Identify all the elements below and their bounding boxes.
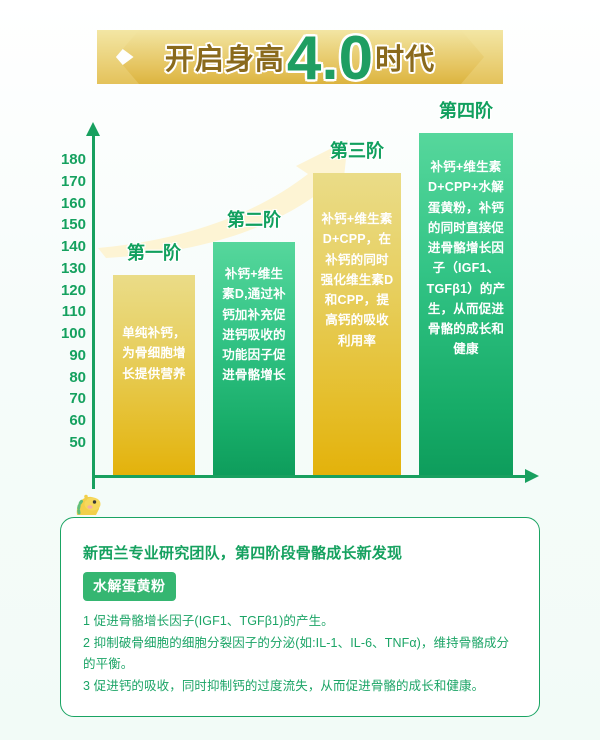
- panel-badge: 水解蛋黄粉: [83, 572, 176, 601]
- y-tick-label: 120: [42, 283, 86, 298]
- y-tick-label: 180: [42, 152, 86, 167]
- y-tick-label: 60: [42, 413, 86, 428]
- y-tick-label: 50: [42, 435, 86, 450]
- info-panel: 新西兰专业研究团队，第四阶段骨骼成长新发现 水解蛋黄粉 1 促进骨骼增长因子(I…: [60, 517, 540, 717]
- y-tick-label: 170: [42, 174, 86, 189]
- bar-label-2: 第二阶: [227, 206, 281, 232]
- bar-group-4[interactable]: 第四阶 补钙+维生素D+CPP+水解蛋黄粉，补钙的同时直接促进骨骼增长因子（IG…: [419, 95, 513, 475]
- bar-text-2: 补钙+维生素D,通过补钙加补充促进钙吸收的功能因子促进骨骼增长: [219, 264, 289, 386]
- panel-item-list: 1 促进骨骼增长因子(IGF1、TGFβ1)的产生。2 抑制破骨细胞的细胞分裂因…: [83, 611, 517, 697]
- bar-label-3: 第三阶: [330, 137, 384, 163]
- banner-number: 4.0: [287, 31, 373, 87]
- y-axis-arrow-icon: [86, 122, 100, 136]
- y-tick-label: 100: [42, 326, 86, 341]
- bar-text-3: 补钙+维生素D+CPP，在补钙的同时强化维生素D和CPP，提高钙的吸收利用率: [319, 209, 395, 351]
- panel-item: 2 抑制破骨细胞的细胞分裂因子的分泌(如:IL-1、IL-6、TNFα)，维持骨…: [83, 633, 517, 676]
- y-tick-label: 110: [42, 304, 86, 319]
- banner: 开启身高 4.0 时代: [0, 22, 600, 92]
- bar-group-2[interactable]: 第二阶 补钙+维生素D,通过补钙加补充促进钙吸收的功能因子促进骨骼增长: [213, 213, 295, 475]
- bar-chart: 1801701601501401301201101009080706050 第一…: [0, 120, 600, 490]
- y-tick-label: 150: [42, 217, 86, 232]
- banner-suffix: 时代: [375, 36, 435, 78]
- panel-item: 3 促进钙的吸收，同时抑制钙的过度流失，从而促进骨骼的成长和健康。: [83, 676, 517, 698]
- panel-heading: 新西兰专业研究团队，第四阶段骨骼成长新发现: [83, 542, 517, 563]
- y-tick-label: 140: [42, 239, 86, 254]
- y-axis-ticks: 1801701601501401301201101009080706050: [38, 120, 86, 490]
- bar-4[interactable]: 补钙+维生素D+CPP+水解蛋黄粉，补钙的同时直接促进骨骼增长因子（IGF1、T…: [419, 133, 513, 475]
- bar-text-4: 补钙+维生素D+CPP+水解蛋黄粉，补钙的同时直接促进骨骼增长因子（IGF1、T…: [425, 157, 507, 360]
- banner-title: 开启身高 4.0 时代: [0, 22, 600, 92]
- y-tick-label: 90: [42, 348, 86, 363]
- bar-3[interactable]: 补钙+维生素D+CPP，在补钙的同时强化维生素D和CPP，提高钙的吸收利用率: [313, 173, 401, 475]
- bar-group-1[interactable]: 第一阶 单纯补钙，为骨细胞增长提供营养: [113, 250, 195, 475]
- banner-prefix: 开启身高: [165, 36, 285, 78]
- y-tick-label: 80: [42, 370, 86, 385]
- x-axis-line: [92, 475, 530, 478]
- bar-label-4: 第四阶: [439, 97, 493, 123]
- bar-2[interactable]: 补钙+维生素D,通过补钙加补充促进钙吸收的功能因子促进骨骼增长: [213, 242, 295, 475]
- y-tick-label: 160: [42, 196, 86, 211]
- bar-text-1: 单纯补钙，为骨细胞增长提供营养: [119, 323, 189, 384]
- y-tick-label: 130: [42, 261, 86, 276]
- bar-group-3[interactable]: 第三阶 补钙+维生素D+CPP，在补钙的同时强化维生素D和CPP，提高钙的吸收利…: [313, 143, 401, 475]
- x-axis-arrow-icon: [525, 469, 539, 483]
- y-axis-line: [92, 134, 95, 489]
- bar-label-1: 第一阶: [127, 239, 181, 265]
- y-tick-label: 70: [42, 391, 86, 406]
- panel-item: 1 促进骨骼增长因子(IGF1、TGFβ1)的产生。: [83, 611, 517, 633]
- bar-1[interactable]: 单纯补钙，为骨细胞增长提供营养: [113, 275, 195, 475]
